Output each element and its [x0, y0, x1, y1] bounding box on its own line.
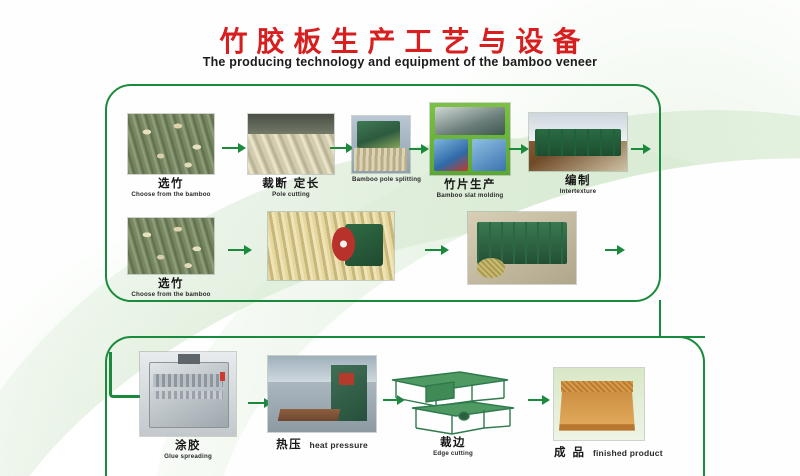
photo-part-right-machine — [472, 139, 506, 171]
step-intertexture-1: 编制 Intertexture — [529, 113, 627, 195]
photo-part-roller-upper — [153, 374, 222, 387]
caption-intertexture-1: 编制 Intertexture — [529, 174, 627, 195]
arrow-choose-to-cutting — [222, 143, 246, 153]
step-choose-bamboo-2: 选竹 Choose from the bamboo — [128, 218, 214, 298]
caption-edge-cutting: 裁边 Edge cutting — [386, 436, 520, 457]
photo-part-upper-machine — [435, 107, 505, 136]
photo-part-left-machine — [434, 139, 468, 171]
caption-en: Glue spreading — [140, 453, 236, 460]
arrow-choose2-to-strips — [228, 245, 252, 255]
photo-part-work-table — [278, 409, 341, 421]
photo-part-woven-mat — [477, 258, 505, 278]
photo-weaving-rig — [529, 113, 627, 171]
step-intertexture-2 — [468, 212, 576, 284]
photo-part-flywheel-machine — [345, 224, 383, 266]
caption-en: Choose from the bamboo — [128, 291, 214, 298]
arrow-intertexture-to-frame-exit — [631, 144, 651, 154]
caption-zh: 选竹 — [128, 177, 214, 190]
arrow-edge-to-finished — [528, 395, 550, 405]
step-pole-cutting: 裁断 定长 Pole cutting — [248, 114, 334, 198]
caption-zh: 编制 — [529, 174, 627, 187]
caption-en: finished product — [593, 449, 663, 459]
flow-connector-vertical — [659, 300, 661, 338]
photo-splitting-machine — [352, 116, 410, 173]
step-pole-splitting: Bamboo pole splitting — [352, 116, 410, 183]
caption-glue-spreading: 涂胶 Glue spreading — [140, 439, 236, 460]
caption-zh: 选竹 — [128, 277, 214, 290]
caption-zh: 竹片生产 — [430, 178, 510, 191]
photo-slat-machines — [430, 103, 510, 175]
photo-part-board-surface — [561, 381, 633, 393]
step-glue-spreading: 涂胶 Glue spreading — [140, 352, 236, 460]
caption-en: Edge cutting — [386, 450, 520, 457]
photo-bamboo-board — [554, 368, 644, 440]
caption-heat-pressure: 热压 heat pressure — [268, 435, 376, 453]
caption-zh: 热压 — [276, 438, 302, 451]
caption-pole-cutting: 裁断 定长 Pole cutting — [248, 177, 334, 198]
caption-en: Intertexture — [529, 188, 627, 195]
caption-zh: 裁断 定长 — [248, 177, 334, 190]
step-edge-cutting: 裁边 Edge cutting — [386, 358, 520, 457]
step-finished-product: 成 品 finished product — [554, 368, 644, 461]
photo-edge-cutters — [386, 358, 520, 438]
photo-part-roller-lower — [153, 391, 222, 399]
arrow-loom-to-frame-exit — [605, 245, 625, 255]
caption-en: Pole cutting — [248, 191, 334, 198]
caption-en: Bamboo slat molding — [430, 192, 510, 199]
photo-bamboo-bundle — [128, 114, 214, 174]
photo-glue-spreader — [140, 352, 236, 436]
step-choose-bamboo-1: 选竹 Choose from the bamboo — [128, 114, 214, 198]
caption-zh: 涂胶 — [140, 439, 236, 452]
poster-canvas: 竹胶板生产工艺与设备 The producing technology and … — [0, 0, 800, 476]
caption-choose-bamboo-2: 选竹 Choose from the bamboo — [128, 277, 214, 298]
photo-part-hopper — [178, 354, 199, 364]
step-strip-production — [268, 212, 394, 280]
caption-finished-product: 成 品 finished product — [554, 443, 644, 461]
caption-en: Choose from the bamboo — [128, 191, 214, 198]
caption-zh: 成 品 — [554, 446, 586, 459]
step-slat-molding: 竹片生产 Bamboo slat molding — [430, 103, 510, 199]
photo-bamboo-bundle — [128, 218, 214, 274]
caption-slat-molding: 竹片生产 Bamboo slat molding — [430, 178, 510, 199]
edge-cutter-illustration — [386, 358, 520, 438]
photo-part-press-head — [339, 373, 354, 385]
caption-pole-splitting: Bamboo pole splitting — [352, 176, 410, 183]
photo-part-control-panel — [220, 372, 226, 380]
arrow-splitting-to-molding — [409, 144, 429, 154]
photo-cut-poles — [248, 114, 334, 174]
arrow-molding-to-intertexture — [509, 144, 529, 154]
page-title-english: The producing technology and equipment o… — [0, 55, 800, 69]
photo-weaving-loom — [468, 212, 576, 284]
page-title-chinese: 竹胶板生产工艺与设备 — [0, 20, 800, 60]
photo-bamboo-strips — [268, 212, 394, 280]
arrow-strips-to-loom — [425, 245, 449, 255]
caption-en: heat pressure — [310, 441, 368, 451]
caption-choose-bamboo-1: 选竹 Choose from the bamboo — [128, 177, 214, 198]
caption-en: Bamboo pole splitting — [352, 176, 410, 183]
arrow-cutting-to-splitting — [330, 143, 354, 153]
photo-hot-press — [268, 356, 376, 432]
step-heat-pressure: 热压 heat pressure — [268, 356, 376, 453]
